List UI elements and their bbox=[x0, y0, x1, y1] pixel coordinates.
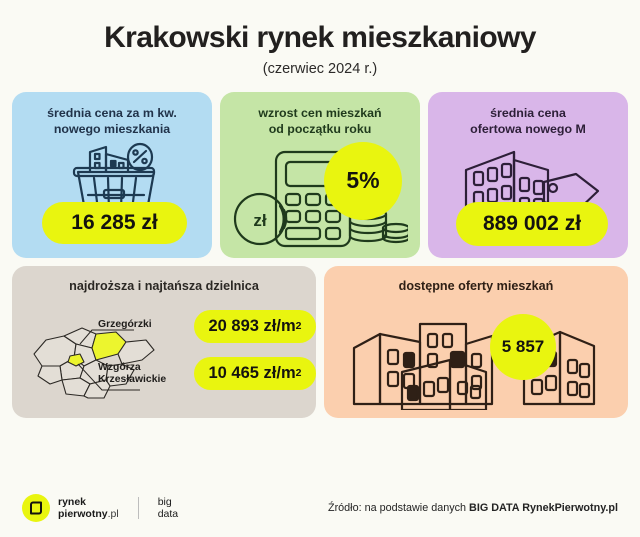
brand-tld: .pl bbox=[108, 508, 119, 520]
card-avg-offer-price: średnia cena ofertowa nowego M bbox=[428, 92, 628, 258]
district-label-most-expensive: Grzegórzki bbox=[98, 319, 152, 331]
card-districts: najdroższa i najtańsza dzielnica bbox=[12, 266, 316, 418]
source-note: Źródło: na podstawie danych BIG DATA Ryn… bbox=[328, 502, 618, 514]
value-avg-price-per-sqm: 16 285 zł bbox=[42, 202, 187, 244]
district-value-cheapest-wrap: 10 465 zł/m2 bbox=[194, 357, 316, 390]
card-avg-price-per-sqm: średnia cena za m kw. nowego mieszkania bbox=[12, 92, 212, 258]
page-title: Krakowski rynek mieszkaniowy bbox=[12, 22, 628, 54]
divider bbox=[138, 497, 139, 519]
district-label-cheapest-line1: Wzgórza bbox=[98, 362, 141, 373]
brand-line2: pierwotny bbox=[58, 508, 108, 520]
svg-text:zł: zł bbox=[253, 211, 267, 230]
bigdata-line2: data bbox=[158, 508, 178, 520]
unit-exponent: 2 bbox=[296, 367, 302, 379]
brand-name: rynek pierwotny.pl bbox=[58, 496, 119, 520]
value-available-offers: 5 857 bbox=[490, 314, 556, 380]
card-title-avg-offer-price: średnia cena ofertowa nowego M bbox=[438, 105, 618, 138]
card-title-avg-price-per-sqm: średnia cena za m kw. nowego mieszkania bbox=[22, 105, 202, 138]
card-title-available-offers: dostępne oferty mieszkań bbox=[334, 278, 618, 295]
card-title-line1: wzrost cen mieszkań bbox=[258, 106, 381, 120]
source-bold: BIG DATA RynekPierwotny.pl bbox=[469, 502, 618, 514]
card-title-line1: średnia cena bbox=[490, 106, 566, 120]
header: Krakowski rynek mieszkaniowy (czerwiec 2… bbox=[12, 0, 628, 77]
card-title-line2: nowego mieszkania bbox=[54, 122, 170, 136]
district-value-cheapest: 10 465 zł/m2 bbox=[194, 357, 316, 390]
footer: rynek pierwotny.pl big data Źródło: na p… bbox=[0, 479, 640, 537]
stat-cards-top-row: średnia cena za m kw. nowego mieszkania bbox=[12, 92, 628, 258]
card-title-line2: ofertowa nowego M bbox=[470, 122, 586, 136]
source-prefix: Źródło: na podstawie danych bbox=[328, 502, 469, 514]
district-value-most-expensive: 20 893 zł/m2 bbox=[194, 310, 316, 343]
infographic-page: Krakowski rynek mieszkaniowy (czerwiec 2… bbox=[0, 0, 640, 537]
brand-line1: rynek bbox=[58, 496, 86, 508]
rynek-pierwotny-logo-icon bbox=[22, 494, 50, 522]
district-label-cheapest: Wzgórza Krzesławickie bbox=[98, 362, 166, 387]
bigdata-line1: big bbox=[158, 496, 172, 508]
card-title-line1: średnia cena za m kw. bbox=[47, 106, 177, 120]
district-value-most-expensive-text: 20 893 zł/m bbox=[209, 317, 296, 336]
card-title-line2: od początku roku bbox=[269, 122, 372, 136]
card-available-offers: dostępne oferty mieszkań bbox=[324, 266, 628, 418]
page-subtitle: (czerwiec 2024 r.) bbox=[12, 61, 628, 77]
card-price-growth: wzrost cen mieszkań od początku roku bbox=[220, 92, 420, 258]
card-title-districts: najdroższa i najtańsza dzielnica bbox=[22, 278, 306, 295]
value-avg-offer-price: 889 002 zł bbox=[456, 202, 608, 246]
bigdata-logo-text: big data bbox=[158, 496, 178, 520]
stat-cards-bottom-row: najdroższa i najtańsza dzielnica bbox=[12, 266, 628, 418]
city-buildings-icon bbox=[346, 306, 602, 415]
district-value-cheapest-text: 10 465 zł/m bbox=[209, 364, 296, 383]
card-title-price-growth: wzrost cen mieszkań od początku roku bbox=[230, 105, 410, 138]
district-label-cheapest-line2: Krzesławickie bbox=[98, 374, 166, 385]
unit-exponent: 2 bbox=[296, 320, 302, 332]
brand-logo[interactable]: rynek pierwotny.pl big data bbox=[22, 494, 178, 522]
district-value-most-expensive-wrap: 20 893 zł/m2 bbox=[194, 310, 316, 343]
value-price-growth: 5% bbox=[324, 142, 402, 220]
